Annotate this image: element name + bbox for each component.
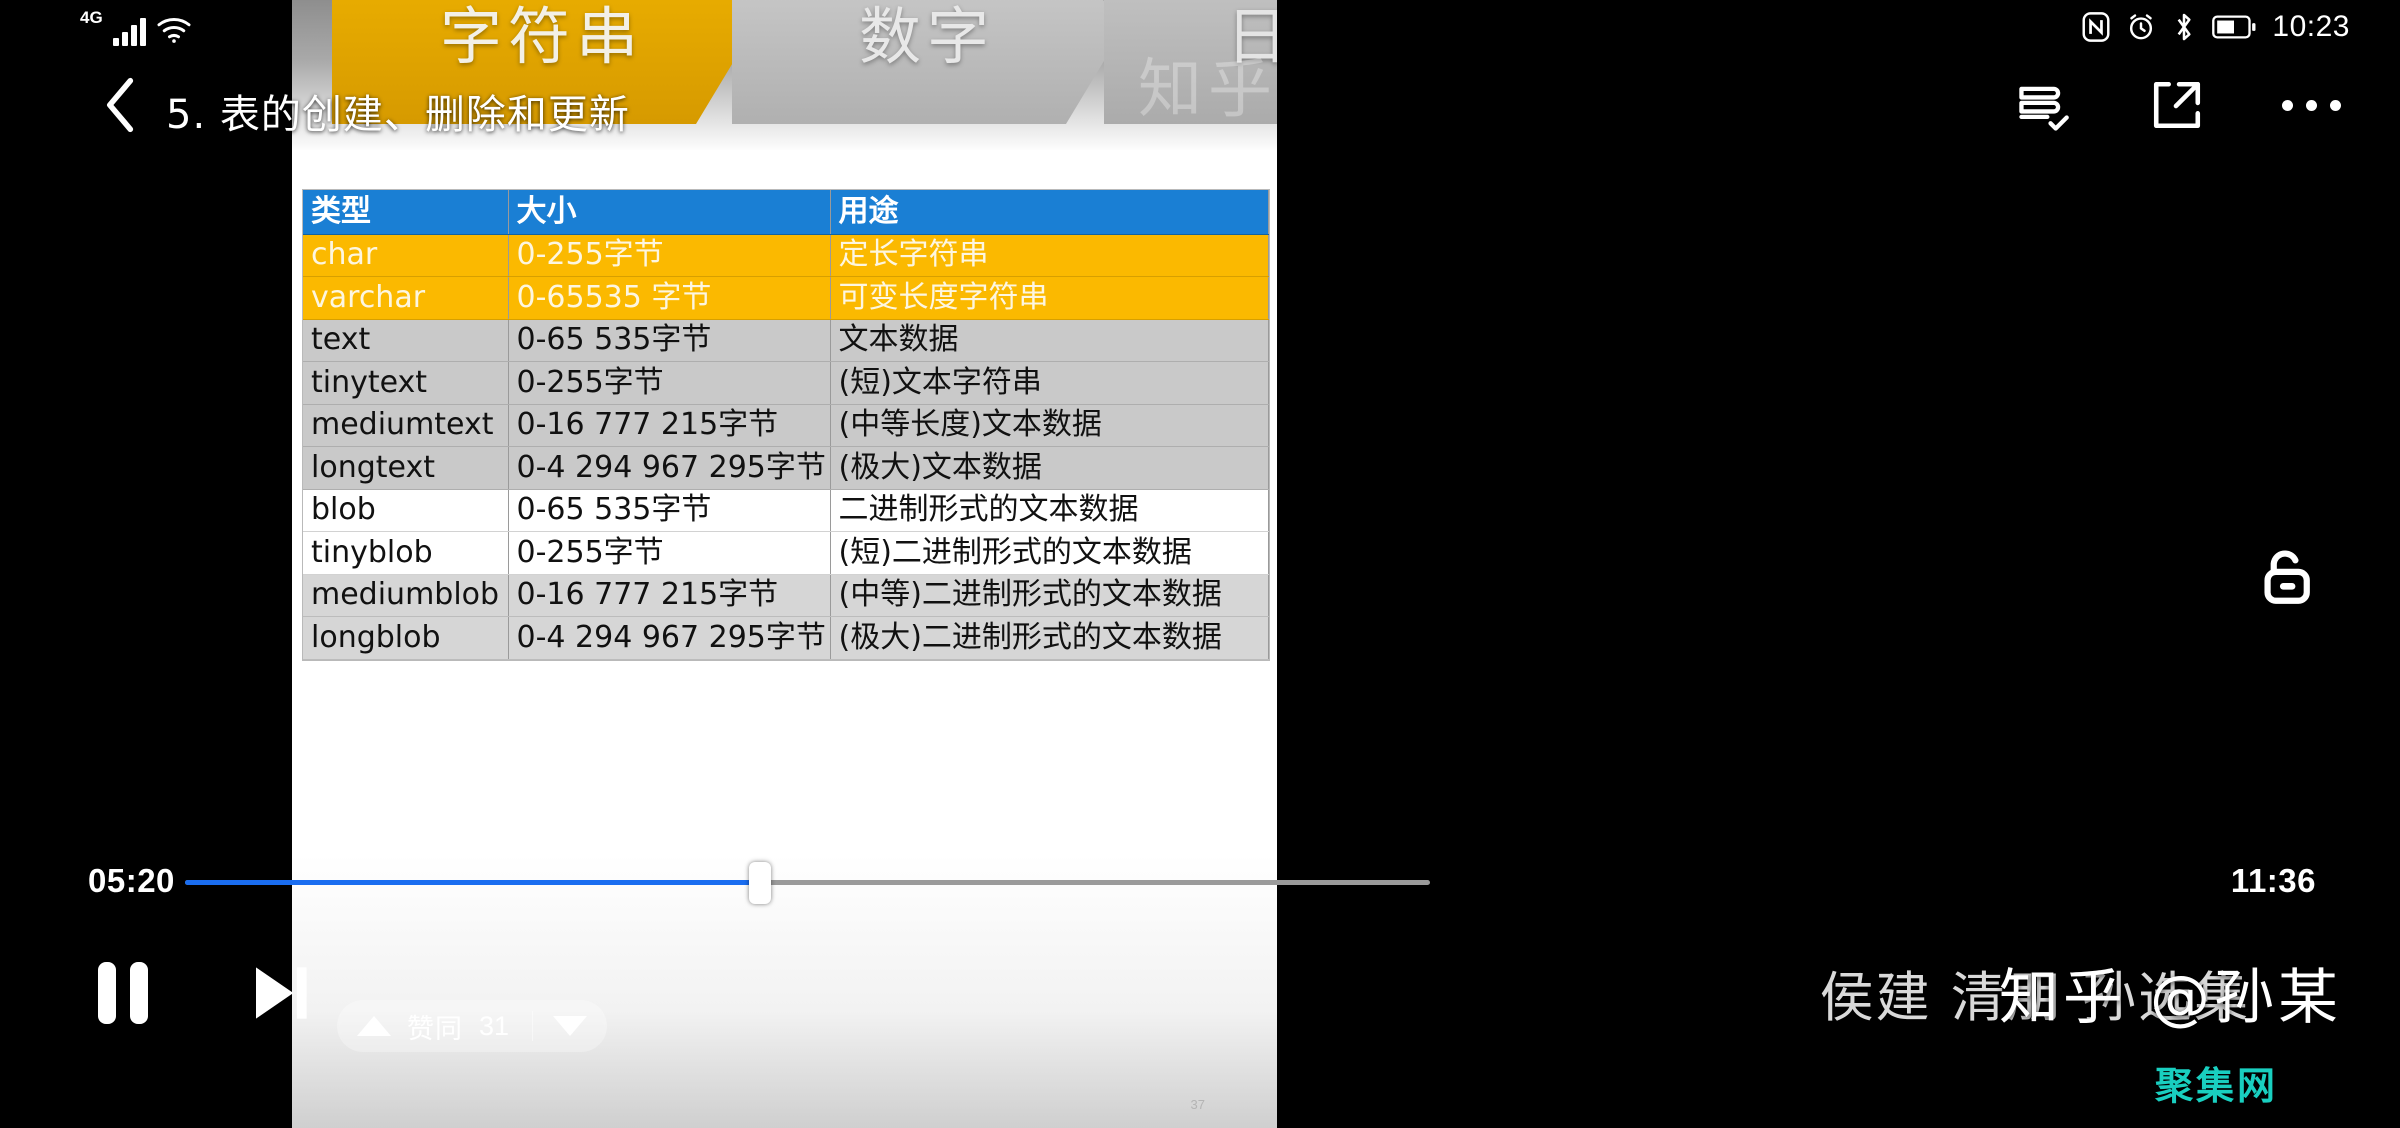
nav-actions (2008, 70, 2346, 140)
seek-bar-thumb[interactable] (749, 862, 771, 904)
cell-type: mediumblob (303, 574, 508, 617)
cell-size: 0-65 535字节 (508, 319, 830, 362)
pause-icon (98, 962, 148, 1024)
downvote-button[interactable] (533, 1016, 607, 1036)
upvote-label: 赞同 (407, 1007, 463, 1046)
cell-type: longblob (303, 617, 508, 660)
table-row: varchar0-65535 字节可变长度字符串 (303, 277, 1268, 320)
pause-button[interactable] (80, 950, 166, 1036)
cell-use: (短)文本字符串 (830, 362, 1268, 405)
upvote-button[interactable]: 赞同 31 (337, 1007, 532, 1046)
nfc-icon (2082, 12, 2110, 42)
seek-bar-fill (185, 880, 760, 885)
table-row: blob0-65 535字节二进制形式的文本数据 (303, 489, 1268, 532)
network-type-label: 4G (80, 8, 103, 28)
column-header-use: 用途 (830, 190, 1268, 234)
cell-type: longtext (303, 447, 508, 490)
cell-type: tinytext (303, 362, 508, 405)
cell-type: blob (303, 489, 508, 532)
cell-size: 0-65535 字节 (508, 277, 830, 320)
chevron-left-icon (104, 77, 138, 133)
collect-button[interactable] (2008, 70, 2078, 140)
lock-open-icon (2251, 543, 2313, 609)
cell-use: (中等长度)文本数据 (830, 404, 1268, 447)
cell-type: tinyblob (303, 532, 508, 575)
column-header-size: 大小 (508, 190, 830, 234)
bluetooth-icon (2172, 11, 2196, 43)
video-surface[interactable]: 字符串 数字 日期 类型 大小 用途 char0-255字节定长字符串varch… (292, 0, 1277, 1128)
cell-use: 二进制形式的文本数据 (830, 489, 1268, 532)
table-row: char0-255字节定长字符串 (303, 234, 1268, 277)
total-time-label: 11:36 (2146, 862, 2316, 900)
cell-size: 0-255字节 (508, 234, 830, 277)
cell-size: 0-4 294 967 295字节 (508, 447, 830, 490)
data-types-table: 类型 大小 用途 char0-255字节定长字符串varchar0-65535 … (303, 190, 1269, 660)
alarm-icon (2126, 12, 2156, 42)
cell-use: (极大)二进制形式的文本数据 (830, 617, 1268, 660)
cell-use: (极大)文本数据 (830, 447, 1268, 490)
screen-lock-button[interactable] (2234, 528, 2330, 624)
cell-size: 0-4 294 967 295字节 (508, 617, 830, 660)
next-track-icon (242, 958, 312, 1028)
cell-size: 0-65 535字节 (508, 489, 830, 532)
cell-size: 0-16 777 215字节 (508, 574, 830, 617)
table-row: mediumblob0-16 777 215字节(中等)二进制形式的文本数据 (303, 574, 1268, 617)
table-row: longtext0-4 294 967 295字节(极大)文本数据 (303, 447, 1268, 490)
seek-bar-track[interactable] (185, 880, 1430, 885)
status-bar-right: 10:23 (2082, 10, 2350, 44)
cell-size: 0-255字节 (508, 362, 830, 405)
cell-use: 可变长度字符串 (830, 277, 1268, 320)
status-bar-clock: 10:23 (2272, 10, 2350, 44)
table-row: longblob0-4 294 967 295字节(极大)二进制形式的文本数据 (303, 617, 1268, 660)
vote-pill: 赞同 31 (337, 1000, 607, 1052)
slide-page-number: 37 (1191, 1097, 1205, 1112)
top-navigation-bar: 5. 表的创建、删除和更新 (0, 62, 2400, 152)
battery-icon (2212, 15, 2256, 39)
author-watermark: 知乎 @孙某 (1999, 949, 2342, 1036)
column-header-type: 类型 (303, 190, 508, 234)
table-row: tinyblob0-255字节(短)二进制形式的文本数据 (303, 532, 1268, 575)
cell-type: varchar (303, 277, 508, 320)
cell-use: (中等)二进制形式的文本数据 (830, 574, 1268, 617)
status-bar: 4G (0, 0, 2400, 60)
page-title: 5. 表的创建、删除和更新 (166, 82, 630, 140)
cell-size: 0-255字节 (508, 532, 830, 575)
status-bar-left: 4G (80, 8, 192, 46)
table-row: mediumtext0-16 777 215字节(中等长度)文本数据 (303, 404, 1268, 447)
wifi-icon (156, 16, 192, 44)
table-row: tinytext0-255字节(短)文本字符串 (303, 362, 1268, 405)
cell-type: text (303, 319, 508, 362)
back-button[interactable] (92, 70, 150, 140)
collect-icon (2015, 77, 2071, 133)
cell-use: 文本数据 (830, 319, 1268, 362)
triangle-down-icon (553, 1016, 587, 1036)
cell-use: 定长字符串 (830, 234, 1268, 277)
cell-type: char (303, 234, 508, 277)
next-button[interactable] (234, 950, 320, 1036)
more-button[interactable] (2276, 70, 2346, 140)
transport-controls (80, 950, 320, 1036)
share-icon (2150, 78, 2204, 132)
table-header-row: 类型 大小 用途 (303, 190, 1268, 234)
cell-use: (短)二进制形式的文本数据 (830, 532, 1268, 575)
cell-size: 0-16 777 215字节 (508, 404, 830, 447)
video-player-screen: 字符串 数字 日期 类型 大小 用途 char0-255字节定长字符串varch… (0, 0, 2400, 1128)
table-row: text0-65 535字节文本数据 (303, 319, 1268, 362)
upvote-count: 31 (479, 1011, 509, 1042)
cell-type: mediumtext (303, 404, 508, 447)
more-icon (2282, 100, 2341, 111)
share-button[interactable] (2142, 70, 2212, 140)
seek-bar-row: 05:20 11:36 (0, 857, 2400, 909)
site-watermark: 聚集网 (2155, 1055, 2278, 1110)
triangle-up-icon (357, 1016, 391, 1036)
signal-bars-icon (113, 16, 146, 46)
